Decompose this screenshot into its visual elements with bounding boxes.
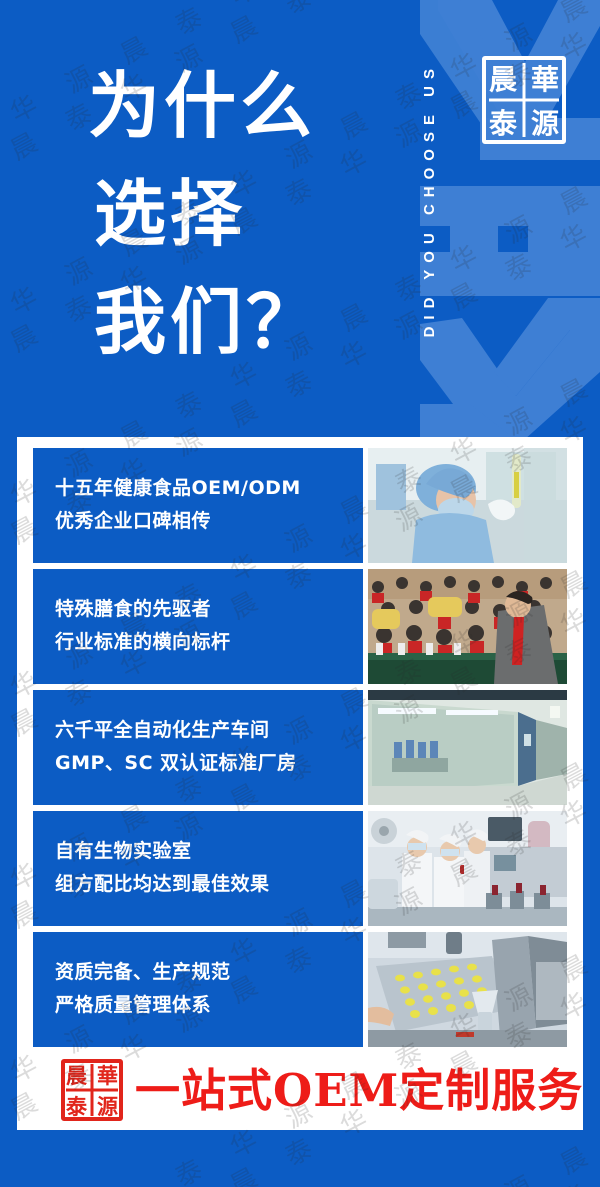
seal-char-tl: 晨 <box>482 56 524 100</box>
poster-root: 为什么 选择 我们？ DID YOU CHOOSE US 晨 華 泰 源 十五年… <box>0 0 600 1187</box>
feature-card[interactable]: 特殊膳食的先驱者 行业标准的横向标杆 <box>33 569 567 684</box>
feature-card-text: 特殊膳食的先驱者 行业标准的横向标杆 <box>33 569 363 684</box>
footer-slogan-text: 一站式OEM定制服务 <box>135 1068 583 1113</box>
feature-line-2: 优秀企业口碑相传 <box>55 505 363 538</box>
feature-line-2: 行业标准的横向标杆 <box>55 626 363 659</box>
feature-card[interactable]: 十五年健康食品OEM/ODM 优秀企业口碑相传 <box>33 448 567 563</box>
production-line-staff-photo <box>368 811 567 926</box>
seal-char-bl: 泰 <box>482 100 524 144</box>
title-line-1: 为什么 <box>88 52 388 160</box>
feature-line-1: 十五年健康食品OEM/ODM <box>55 472 363 505</box>
footer-seal-char-tl: 晨 <box>61 1059 92 1090</box>
feature-card[interactable]: 自有生物实验室 组方配比均达到最佳效果 <box>33 811 567 926</box>
company-seal-icon: 晨 華 泰 源 <box>482 56 566 144</box>
lab-technician-photo <box>368 448 567 563</box>
title-line-2: 选择 <box>88 160 388 268</box>
feature-card-text: 六千平全自动化生产车间 GMP、SC 双认证标准厂房 <box>33 690 363 805</box>
conference-audience-photo <box>368 569 567 684</box>
feature-line-2: 严格质量管理体系 <box>55 989 363 1022</box>
footer-slogan-bar: 晨 華 泰 源 一站式OEM定制服务 <box>33 1056 567 1124</box>
feature-card[interactable]: 资质完备、生产规范 严格质量管理体系 <box>33 932 567 1047</box>
poster-header: 为什么 选择 我们？ DID YOU CHOOSE US 晨 華 泰 源 <box>0 0 600 437</box>
feature-card-list: 十五年健康食品OEM/ODM 优秀企业口碑相传 <box>33 448 567 1053</box>
feature-card-text: 资质完备、生产规范 严格质量管理体系 <box>33 932 363 1047</box>
footer-seal-icon: 晨 華 泰 源 <box>61 1059 123 1121</box>
page-title: 为什么 选择 我们？ <box>88 52 388 376</box>
title-line-3: 我们？ <box>88 268 388 376</box>
feature-card-text: 自有生物实验室 组方配比均达到最佳效果 <box>33 811 363 926</box>
vertical-tagline-text: DID YOU CHOOSE US <box>421 62 438 337</box>
cleanroom-corridor-photo <box>368 690 567 805</box>
feature-line-2: 组方配比均达到最佳效果 <box>55 868 363 901</box>
content-panel: 十五年健康食品OEM/ODM 优秀企业口碑相传 <box>17 437 583 1130</box>
footer-seal-char-bl: 泰 <box>61 1090 92 1121</box>
feature-line-1: 特殊膳食的先驱者 <box>55 593 363 626</box>
feature-line-1: 六千平全自动化生产车间 <box>55 714 363 747</box>
feature-card-text: 十五年健康食品OEM/ODM 优秀企业口碑相传 <box>33 448 363 563</box>
seal-char-br: 源 <box>524 100 566 144</box>
feature-line-1: 自有生物实验室 <box>55 835 363 868</box>
tablet-press-photo <box>368 932 567 1047</box>
vertical-tagline: DID YOU CHOOSE US <box>412 0 446 400</box>
feature-card[interactable]: 六千平全自动化生产车间 GMP、SC 双认证标准厂房 <box>33 690 567 805</box>
feature-line-1: 资质完备、生产规范 <box>55 956 363 989</box>
feature-line-2: GMP、SC 双认证标准厂房 <box>55 747 363 780</box>
seal-char-tr: 華 <box>524 56 566 100</box>
footer-seal-char-tr: 華 <box>92 1059 123 1090</box>
footer-seal-char-br: 源 <box>92 1090 123 1121</box>
